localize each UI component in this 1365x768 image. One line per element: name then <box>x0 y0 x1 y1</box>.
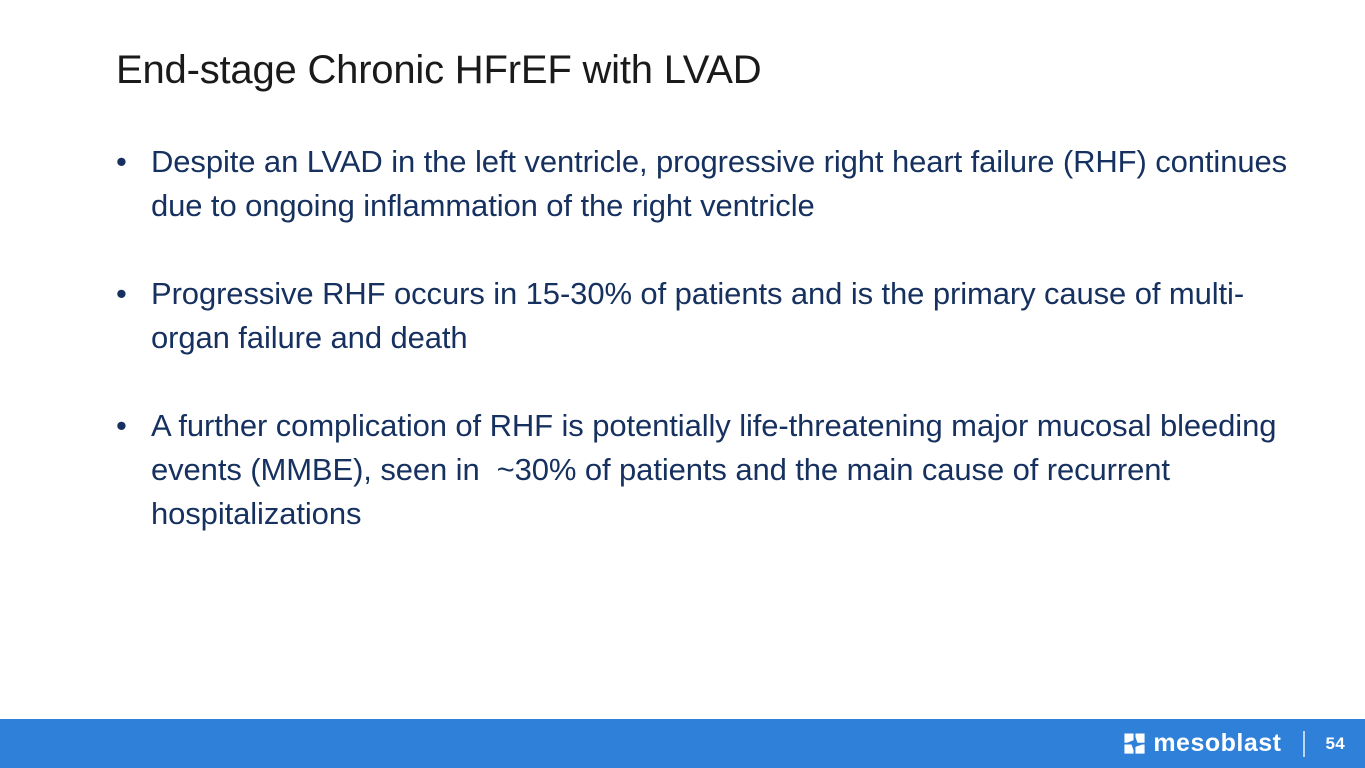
brand-logo: mesoblast <box>1123 731 1281 756</box>
page-number: 54 <box>1325 735 1345 752</box>
bullet-point-icon: • <box>116 140 136 184</box>
list-item: • Despite an LVAD in the left ventricle,… <box>108 140 1288 228</box>
brand-wordmark: mesoblast <box>1153 731 1281 756</box>
mesoblast-pinwheel-logo-icon <box>1123 732 1146 755</box>
slide: End-stage Chronic HFrEF with LVAD • Desp… <box>0 0 1365 768</box>
list-item: • A further complication of RHF is poten… <box>108 404 1288 536</box>
footer-divider <box>1303 731 1305 757</box>
list-item-text: A further complication of RHF is potenti… <box>151 404 1288 536</box>
footer-bar: mesoblast 54 <box>0 719 1365 768</box>
list-item: • Progressive RHF occurs in 15-30% of pa… <box>108 272 1288 360</box>
page-title: End-stage Chronic HFrEF with LVAD <box>116 44 761 96</box>
bullet-point-icon: • <box>116 404 136 448</box>
bullet-list: • Despite an LVAD in the left ventricle,… <box>108 140 1288 536</box>
bullet-point-icon: • <box>116 272 136 316</box>
list-item-text: Progressive RHF occurs in 15-30% of pati… <box>151 272 1288 360</box>
footer-branding: mesoblast 54 <box>1123 719 1345 768</box>
list-item-text: Despite an LVAD in the left ventricle, p… <box>151 140 1288 228</box>
